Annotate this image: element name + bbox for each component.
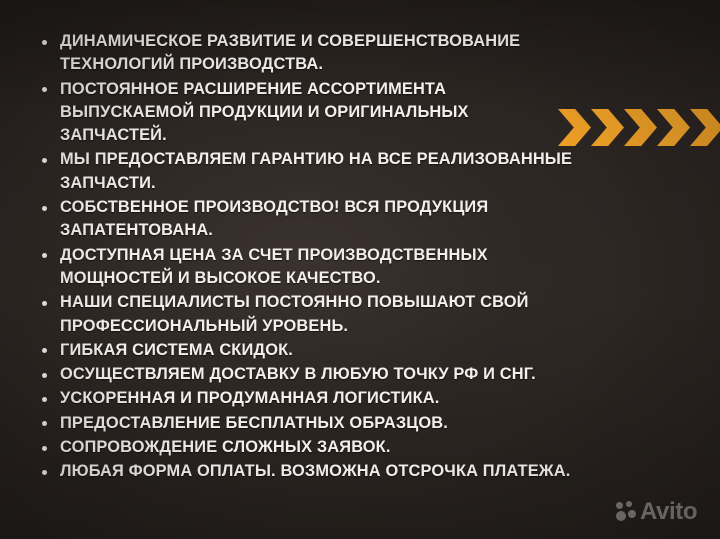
- chevron-right-icon: [690, 109, 720, 146]
- bullet-dot-icon: [42, 158, 47, 163]
- bullet-dot-icon: [42, 421, 47, 426]
- bullet-dot-icon: [42, 470, 47, 475]
- bullet-dot-icon: [42, 301, 47, 306]
- chevron-right-icon: [657, 109, 690, 146]
- bullet-dot-icon: [42, 253, 47, 258]
- list-item: ДОСТУПНАЯ ЦЕНА ЗА СЧЕТ ПРОИЗВОДСТВЕННЫХ …: [38, 244, 578, 291]
- chevron-right-icon: [624, 109, 657, 146]
- list-item-label: ПРЕДОСТАВЛЕНИЕ БЕСПЛАТНЫХ ОБРАЗЦОВ.: [60, 414, 448, 432]
- chevron-arrows-decoration: [558, 109, 720, 146]
- list-item-label: ПОСТОЯННОЕ РАСШИРЕНИЕ АССОРТИМЕНТА ВЫПУС…: [60, 80, 469, 145]
- advantages-list: ДИНАМИЧЕСКОЕ РАЗВИТИЕ И СОВЕРШЕНСТВОВАНИ…: [38, 30, 578, 485]
- list-item-label: МЫ ПРЕДОСТАВЛЯЕМ ГАРАНТИЮ НА ВСЕ РЕАЛИЗО…: [60, 150, 572, 191]
- bullet-dot-icon: [42, 446, 47, 451]
- list-item: ПРЕДОСТАВЛЕНИЕ БЕСПЛАТНЫХ ОБРАЗЦОВ.: [38, 412, 578, 435]
- bullet-dot-icon: [42, 348, 47, 353]
- list-item: МЫ ПРЕДОСТАВЛЯЕМ ГАРАНТИЮ НА ВСЕ РЕАЛИЗО…: [38, 148, 578, 195]
- list-item-label: ОСУЩЕСТВЛЯЕМ ДОСТАВКУ В ЛЮБУЮ ТОЧКУ РФ И…: [60, 365, 536, 383]
- chevron-right-icon: [558, 109, 591, 146]
- list-item: НАШИ СПЕЦИАЛИСТЫ ПОСТОЯННО ПОВЫШАЮТ СВОЙ…: [38, 291, 578, 338]
- list-item-label: НАШИ СПЕЦИАЛИСТЫ ПОСТОЯННО ПОВЫШАЮТ СВОЙ…: [60, 293, 529, 334]
- chevron-right-icon: [591, 109, 624, 146]
- list-item-label: УСКОРЕННАЯ И ПРОДУМАННАЯ ЛОГИСТИКА.: [60, 389, 439, 407]
- list-item: ЛЮБАЯ ФОРМА ОПЛАТЫ. ВОЗМОЖНА ОТСРОЧКА ПЛ…: [38, 460, 578, 483]
- list-item: ДИНАМИЧЕСКОЕ РАЗВИТИЕ И СОВЕРШЕНСТВОВАНИ…: [38, 30, 578, 77]
- avito-dots-icon: [616, 501, 637, 522]
- bullet-dot-icon: [42, 206, 47, 211]
- list-item-label: СОБСТВЕННОЕ ПРОИЗВОДСТВО! ВСЯ ПРОДУКЦИЯ …: [60, 198, 488, 239]
- bullet-dot-icon: [42, 40, 47, 45]
- avito-wordmark: Avito: [640, 501, 697, 522]
- list-item-label: ДИНАМИЧЕСКОЕ РАЗВИТИЕ И СОВЕРШЕНСТВОВАНИ…: [60, 32, 520, 73]
- list-item: СОБСТВЕННОЕ ПРОИЗВОДСТВО! ВСЯ ПРОДУКЦИЯ …: [38, 196, 578, 243]
- avito-watermark: Avito: [616, 501, 697, 522]
- list-item-label: ДОСТУПНАЯ ЦЕНА ЗА СЧЕТ ПРОИЗВОДСТВЕННЫХ …: [60, 246, 488, 287]
- bullet-dot-icon: [42, 373, 47, 378]
- list-item: ОСУЩЕСТВЛЯЕМ ДОСТАВКУ В ЛЮБУЮ ТОЧКУ РФ И…: [38, 363, 578, 386]
- bullet-dot-icon: [42, 87, 47, 92]
- slide-canvas: ДИНАМИЧЕСКОЕ РАЗВИТИЕ И СОВЕРШЕНСТВОВАНИ…: [0, 0, 720, 539]
- list-item-label: ГИБКАЯ СИСТЕМА СКИДОК.: [60, 341, 293, 359]
- list-item: ГИБКАЯ СИСТЕМА СКИДОК.: [38, 339, 578, 362]
- list-item: СОПРОВОЖДЕНИЕ СЛОЖНЫХ ЗАЯВОК.: [38, 436, 578, 459]
- list-item: УСКОРЕННАЯ И ПРОДУМАННАЯ ЛОГИСТИКА.: [38, 387, 578, 410]
- list-item-label: СОПРОВОЖДЕНИЕ СЛОЖНЫХ ЗАЯВОК.: [60, 438, 391, 456]
- bullet-dot-icon: [42, 397, 47, 402]
- list-item-label: ЛЮБАЯ ФОРМА ОПЛАТЫ. ВОЗМОЖНА ОТСРОЧКА ПЛ…: [60, 462, 570, 480]
- list-item: ПОСТОЯННОЕ РАСШИРЕНИЕ АССОРТИМЕНТА ВЫПУС…: [38, 78, 578, 148]
